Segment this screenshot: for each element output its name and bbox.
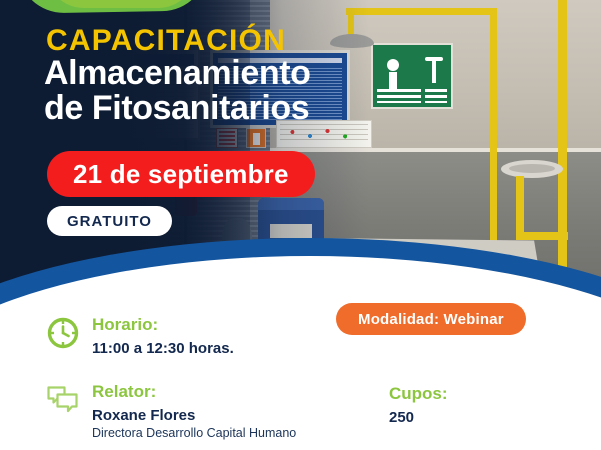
schedule-value: 11:00 a 12:30 horas. (92, 340, 234, 358)
speaker-role: Directora Desarrollo Capital Humano (92, 426, 296, 441)
modality-badge-label: Modalidad: Webinar (358, 311, 504, 328)
chat-bubbles-icon (46, 383, 80, 417)
hero-section: CAPACITACIÓN Almacenamiento de Fitosanit… (0, 0, 601, 312)
speaker-label: Relator: (92, 383, 296, 402)
slots-label: Cupos: (389, 385, 448, 404)
slots-row: Cupos: 250 (389, 385, 448, 427)
speaker-text-block: Relator: Roxane Flores Directora Desarro… (92, 383, 296, 441)
schedule-row: Horario: 11:00 a 12:30 horas. (46, 316, 234, 358)
slots-value: 250 (389, 409, 448, 427)
speaker-name: Roxane Flores (92, 407, 296, 425)
kicker-label: CAPACITACIÓN (46, 26, 286, 56)
slots-text-block: Cupos: 250 (389, 385, 448, 427)
date-badge-label: 21 de septiembre (73, 159, 289, 190)
page-title: Almacenamiento de Fitosanitarios (44, 56, 310, 127)
schedule-label: Horario: (92, 316, 234, 335)
speaker-row: Relator: Roxane Flores Directora Desarro… (46, 383, 296, 441)
date-badge: 21 de septiembre (47, 151, 315, 197)
title-line-1: Almacenamiento (44, 56, 310, 91)
free-badge: GRATUITO (47, 206, 172, 236)
schedule-text-block: Horario: 11:00 a 12:30 horas. (92, 316, 234, 358)
modality-badge: Modalidad: Webinar (336, 303, 526, 335)
free-badge-label: GRATUITO (67, 213, 152, 230)
title-line-2: de Fitosanitarios (44, 91, 310, 126)
clock-icon (46, 316, 80, 350)
promo-flyer: CAPACITACIÓN Almacenamiento de Fitosanit… (0, 0, 601, 450)
